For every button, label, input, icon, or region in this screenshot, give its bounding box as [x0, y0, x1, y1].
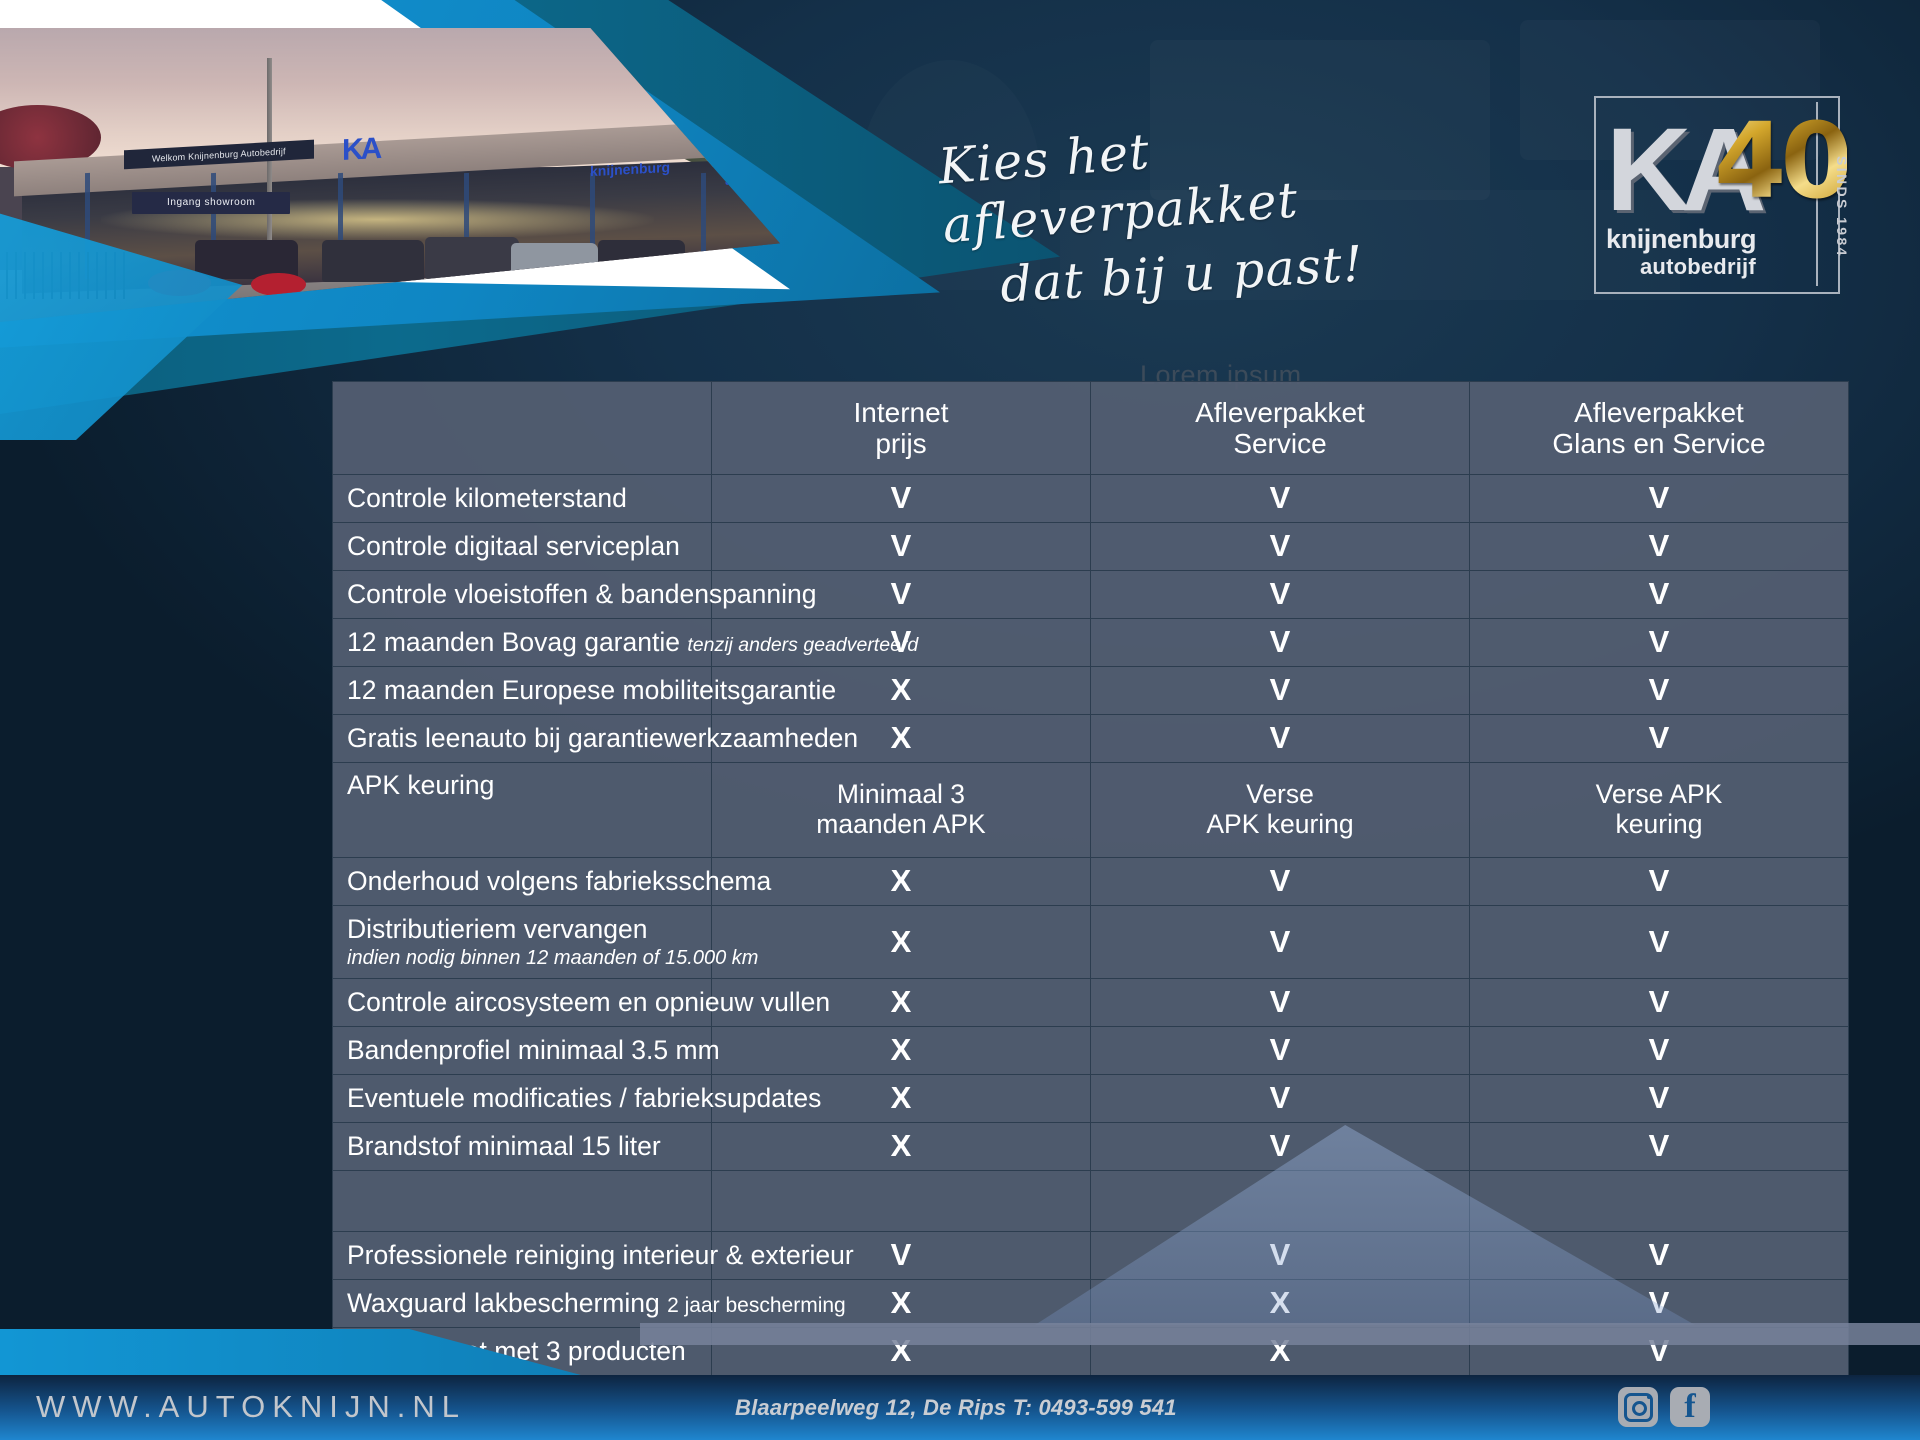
row-cell-service: V — [1091, 1232, 1470, 1280]
company-logo: KA 40 knijnenburg autobedrijf SINDS 1984 — [1594, 96, 1840, 294]
table-row: Controle kilometerstand V V V — [333, 475, 1849, 523]
row-cell-glans: V — [1470, 1232, 1849, 1280]
row-cell-glans: V — [1470, 475, 1849, 523]
table-row: Onderhoud volgens fabrieksschema X V V — [333, 858, 1849, 906]
logo-name-knijnenburg: knijnenburg — [1606, 224, 1756, 255]
row-cell-internet: X — [712, 1027, 1091, 1075]
row-cell-glans: V — [1470, 571, 1849, 619]
row-cell-service: V — [1091, 979, 1470, 1027]
facebook-glyph: f — [1684, 1392, 1695, 1422]
social-links: f — [1618, 1387, 1710, 1427]
apk-service-line1: Verse — [1091, 780, 1469, 810]
spacer-label — [333, 1171, 712, 1232]
page-headline: Kies het afleverpakket dat bij u past! — [940, 118, 1500, 300]
photo-ka-logo: KA — [342, 132, 379, 168]
row-cell-glans: Verse APK keuring — [1470, 763, 1849, 858]
row-label-note: indien nodig binnen 12 maanden of 15.000… — [347, 947, 711, 969]
row-label: APK keuring — [333, 763, 712, 858]
row-cell-internet: V — [712, 475, 1091, 523]
header-internet-line1: Internet — [712, 397, 1090, 428]
row-label: Controle aircosysteem en opnieuw vullen — [333, 979, 712, 1027]
website-url[interactable]: WWW.AUTOKNIJN.NL — [36, 1389, 466, 1425]
row-cell-service: V — [1091, 619, 1470, 667]
table-row: Eventuele modificaties / fabrieksupdates… — [333, 1075, 1849, 1123]
apk-glans-line1: Verse APK — [1470, 780, 1848, 810]
header-internet-prijs: Internet prijs — [712, 382, 1091, 475]
table-row: 12 maanden Bovag garantie tenzij anders … — [333, 619, 1849, 667]
instagram-dot — [1647, 1395, 1651, 1399]
photo-entrance-sign: Ingang showroom — [132, 192, 290, 214]
photo-car-2 — [322, 240, 425, 281]
row-label: Controle vloeistoffen & bandenspanning — [333, 571, 712, 619]
row-cell-service: V — [1091, 667, 1470, 715]
row-cell-internet: X — [712, 906, 1091, 979]
instagram-glyph — [1624, 1393, 1653, 1422]
apk-internet-line1: Minimaal 3 — [712, 780, 1090, 810]
table-header-row: Internet prijs Afleverpakket Service Afl… — [333, 382, 1849, 475]
row-cell-service: V — [1091, 858, 1470, 906]
row-cell-internet: Minimaal 3 maanden APK — [712, 763, 1091, 858]
row-cell-service: X — [1091, 1280, 1470, 1328]
row-label-main: Waxguard lakbescherming — [347, 1288, 660, 1318]
table-row: Gratis leenauto bij garantiewerkzaamhede… — [333, 715, 1849, 763]
table-row: 12 maanden Europese mobiliteitsgarantie … — [333, 667, 1849, 715]
package-comparison-table: Internet prijs Afleverpakket Service Afl… — [332, 381, 1849, 1440]
row-cell-service: V — [1091, 1027, 1470, 1075]
table-row: Bandenprofiel minimaal 3.5 mm X V V — [333, 1027, 1849, 1075]
logo-name-autobedrijf: autobedrijf — [1640, 254, 1756, 280]
row-cell-service: V — [1091, 1123, 1470, 1171]
header-glans-line2: Glans en Service — [1470, 428, 1848, 459]
row-cell-service: V — [1091, 475, 1470, 523]
row-cell-glans: V — [1470, 1123, 1849, 1171]
table-row-apk: APK keuring Minimaal 3 maanden APK Verse… — [333, 763, 1849, 858]
row-label-main: 12 maanden Bovag garantie — [347, 627, 680, 657]
instagram-icon[interactable] — [1618, 1387, 1658, 1427]
row-cell-service: Verse APK keuring — [1091, 763, 1470, 858]
row-cell-glans: V — [1470, 858, 1849, 906]
address-and-phone: Blaarpeelweg 12, De Rips T: 0493-599 541 — [735, 1395, 1177, 1421]
row-label: Brandstof minimaal 15 liter — [333, 1123, 712, 1171]
table-row: Controle aircosysteem en opnieuw vullen … — [333, 979, 1849, 1027]
row-label: Controle kilometerstand — [333, 475, 712, 523]
row-label-note: 2 jaar bescherming — [667, 1294, 846, 1317]
row-cell-internet: V — [712, 523, 1091, 571]
row-cell-service: V — [1091, 906, 1470, 979]
logo-since-text: SINDS 1984 — [1834, 156, 1850, 258]
row-label: Professionele reiniging interieur & exte… — [333, 1232, 712, 1280]
row-label: Bandenprofiel minimaal 3.5 mm — [333, 1027, 712, 1075]
row-cell-glans: V — [1470, 667, 1849, 715]
apk-internet-line2: maanden APK — [712, 810, 1090, 840]
table-row: Waxguard lakbescherming 2 jaar beschermi… — [333, 1280, 1849, 1328]
header-afleverpakket-glans-service: Afleverpakket Glans en Service — [1470, 382, 1849, 475]
table-spacer-row — [333, 1171, 1849, 1232]
apk-service-line2: APK keuring — [1091, 810, 1469, 840]
table-row: Professionele reiniging interieur & exte… — [333, 1232, 1849, 1280]
row-cell-glans: V — [1470, 715, 1849, 763]
row-label-main: Distributieriem vervangen — [347, 914, 647, 944]
table-row: Controle digitaal serviceplan V V V — [333, 523, 1849, 571]
row-cell-service: V — [1091, 715, 1470, 763]
facebook-icon[interactable]: f — [1670, 1387, 1710, 1427]
row-label: Waxguard lakbescherming 2 jaar beschermi… — [333, 1280, 712, 1328]
row-cell-glans: V — [1470, 1075, 1849, 1123]
row-label: 12 maanden Bovag garantie tenzij anders … — [333, 619, 712, 667]
header-blank-cell — [333, 382, 712, 475]
row-label: Distributieriem vervangen indien nodig b… — [333, 906, 712, 979]
row-cell-service: V — [1091, 1075, 1470, 1123]
row-cell-glans: V — [1470, 1280, 1849, 1328]
page-footer: WWW.AUTOKNIJN.NL Blaarpeelweg 12, De Rip… — [0, 1375, 1920, 1440]
table-row: Brandstof minimaal 15 liter X V V — [333, 1123, 1849, 1171]
apk-glans-line2: keuring — [1470, 810, 1848, 840]
row-cell-glans: V — [1470, 523, 1849, 571]
row-cell-glans: V — [1470, 906, 1849, 979]
row-label: Onderhoud volgens fabrieksschema — [333, 858, 712, 906]
row-cell-service: V — [1091, 571, 1470, 619]
row-cell-internet: X — [712, 1123, 1091, 1171]
header-afleverpakket-service: Afleverpakket Service — [1091, 382, 1470, 475]
row-label-note: tenzij anders geadverteerd — [687, 634, 918, 656]
logo-anniversary-40: 40 — [1714, 100, 1847, 222]
row-label: Eventuele modificaties / fabrieksupdates — [333, 1075, 712, 1123]
row-cell-glans: V — [1470, 619, 1849, 667]
header-glans-line1: Afleverpakket — [1470, 397, 1848, 428]
row-label: 12 maanden Europese mobiliteitsgarantie — [333, 667, 712, 715]
row-cell-service: V — [1091, 523, 1470, 571]
row-cell-glans: V — [1470, 1027, 1849, 1075]
table-row: Controle vloeistoffen & bandenspanning V… — [333, 571, 1849, 619]
footer-grey-bar — [640, 1323, 1920, 1345]
spacer-cell-glans — [1470, 1171, 1849, 1232]
spacer-cell-service — [1091, 1171, 1470, 1232]
header-service-line1: Afleverpakket — [1091, 397, 1469, 428]
header-internet-line2: prijs — [712, 428, 1090, 459]
row-label: Gratis leenauto bij garantiewerkzaamhede… — [333, 715, 712, 763]
table-row: Distributieriem vervangen indien nodig b… — [333, 906, 1849, 979]
row-label: Controle digitaal serviceplan — [333, 523, 712, 571]
row-cell-glans: V — [1470, 979, 1849, 1027]
spacer-cell-internet — [712, 1171, 1091, 1232]
header-service-line2: Service — [1091, 428, 1469, 459]
